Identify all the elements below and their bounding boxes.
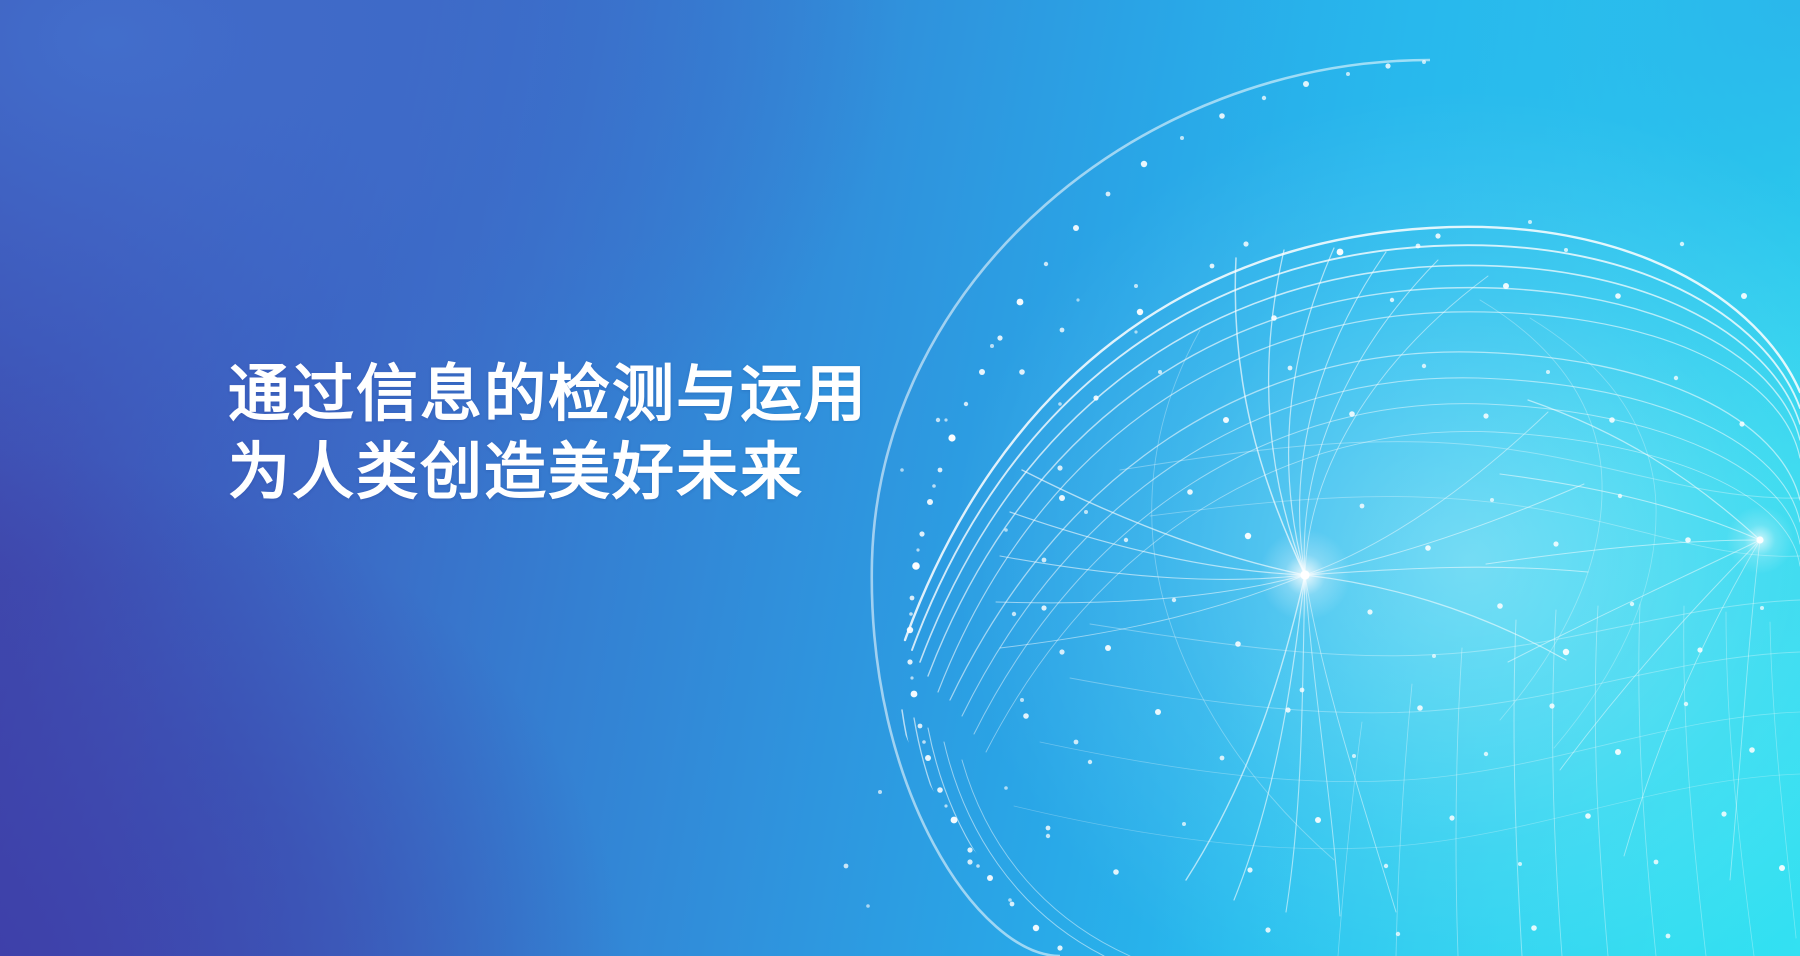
headline-line-2: 为人类创造美好未来 <box>228 434 868 512</box>
headline-line-1: 通过信息的检测与运用 <box>228 356 868 434</box>
focal-node-primary <box>1300 570 1309 579</box>
focal-node-secondary <box>1756 536 1763 543</box>
banner-stage: 通过信息的检测与运用 为人类创造美好未来 <box>0 0 1800 956</box>
headline-block: 通过信息的检测与运用 为人类创造美好未来 <box>228 356 868 512</box>
globe-interior <box>880 90 1800 956</box>
globe-sheen <box>950 90 1800 956</box>
